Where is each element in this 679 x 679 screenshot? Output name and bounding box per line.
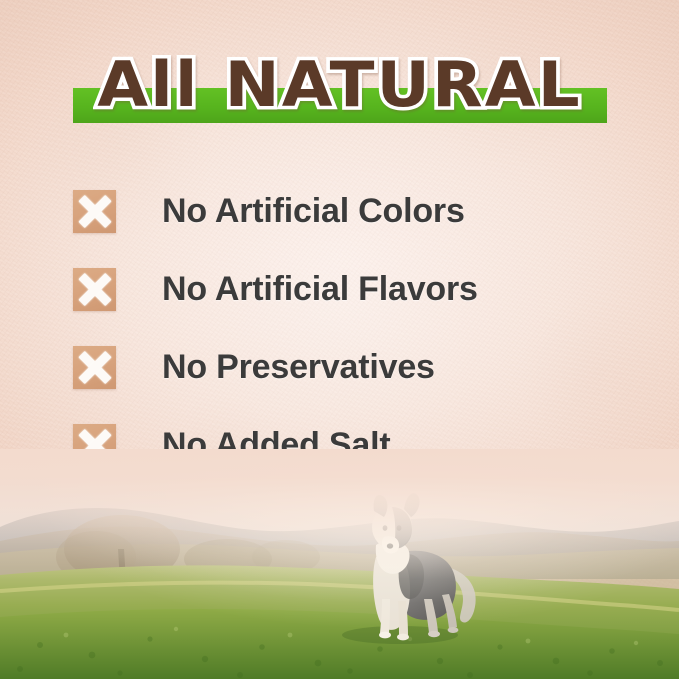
- x-mark-icon: [73, 346, 116, 389]
- headline-banner: All NATURAL: [0, 46, 679, 142]
- dog-field-photo: [0, 449, 679, 679]
- claim-label: No Artificial Flavors: [162, 270, 478, 309]
- claim-label: No Artificial Colors: [162, 192, 465, 231]
- claims-list: No Artificial Colors No Artificial Flavo…: [0, 172, 679, 484]
- photo-artwork: [0, 449, 679, 679]
- claim-row: No Preservatives: [0, 328, 679, 406]
- claim-row: No Artificial Colors: [0, 172, 679, 250]
- all-natural-poster: All NATURAL No Artificial Colors No Arti…: [0, 0, 679, 679]
- x-mark-icon: [73, 190, 116, 233]
- claim-label: No Preservatives: [162, 348, 435, 387]
- x-mark-icon: [73, 268, 116, 311]
- claim-row: No Artificial Flavors: [0, 250, 679, 328]
- headline-text: All NATURAL: [0, 46, 679, 124]
